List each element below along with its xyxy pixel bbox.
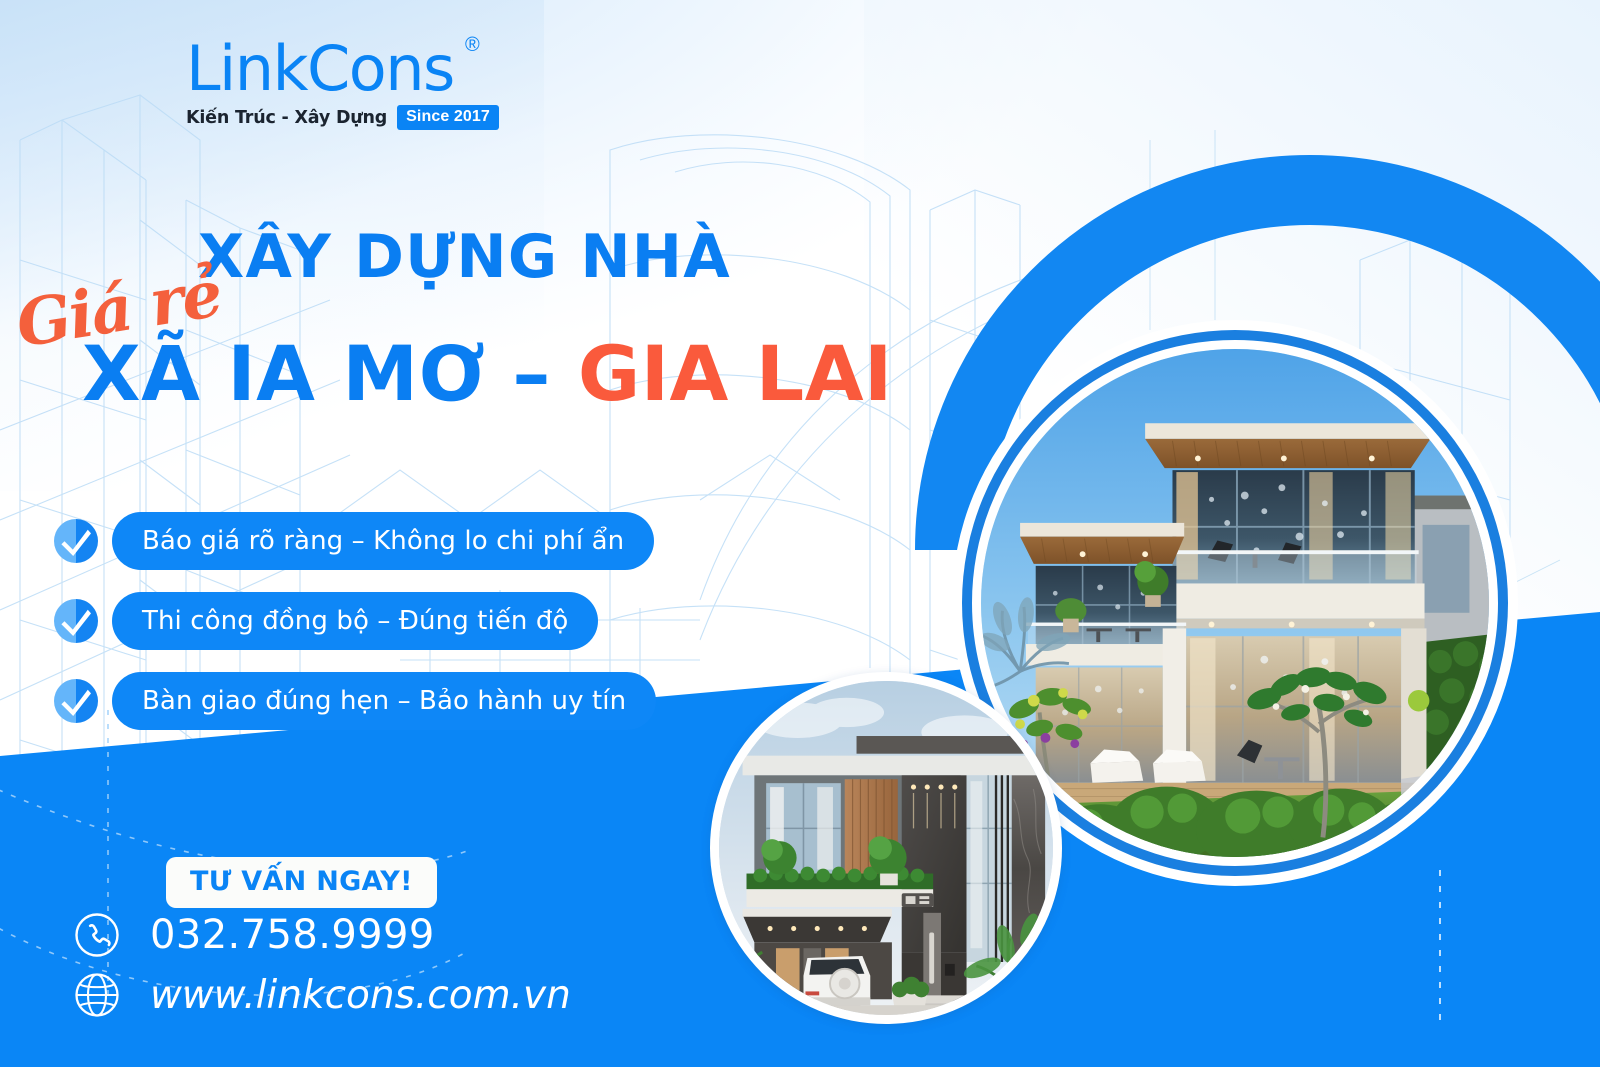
website-url: www.linkcons.com.vn	[150, 973, 571, 1018]
brand-logo[interactable]: LinkCons ® Kiến Trúc - Xây Dựng Since 20…	[186, 38, 499, 130]
check-circle-icon	[52, 677, 100, 725]
check-circle-icon	[52, 597, 100, 645]
feature-pill: Báo giá rõ ràng – Không lo chi phí ẩn	[112, 512, 654, 570]
brand-tagline: Kiến Trúc - Xây Dựng	[186, 108, 387, 128]
check-circle-icon	[52, 517, 100, 565]
headline-line-2: XÃ IA MƠ – GIA LAI	[82, 336, 893, 412]
feature-pill: Bàn giao đúng hẹn – Bảo hành uy tín	[112, 672, 656, 730]
phone-number: 032.758.9999	[150, 912, 435, 958]
villa-photo-secondary	[719, 681, 1053, 1015]
globe-icon	[74, 972, 120, 1018]
villa-photo-main	[981, 349, 1489, 857]
cta-button[interactable]: TƯ VẤN NGAY!	[166, 857, 437, 908]
logo-wordmark: LinkCons	[186, 38, 454, 100]
contact-list: 032.758.9999 www.linkcons.com.vn	[74, 912, 571, 1032]
headline-line-1: XÂY DỰNG NHÀ	[198, 222, 731, 292]
feature-pill: Thi công đồng bộ – Đúng tiến độ	[112, 592, 598, 650]
feature-item: Thi công đồng bộ – Đúng tiến độ	[52, 592, 656, 650]
feature-list: Báo giá rõ ràng – Không lo chi phí ẩn Th…	[52, 512, 656, 752]
feature-item: Báo giá rõ ràng – Không lo chi phí ẩn	[52, 512, 656, 570]
banner-canvas: LinkCons ® Kiến Trúc - Xây Dựng Since 20…	[0, 0, 1600, 1067]
contact-phone[interactable]: 032.758.9999	[74, 912, 571, 958]
phone-icon	[74, 912, 120, 958]
feature-item: Bàn giao đúng hẹn – Bảo hành uy tín	[52, 672, 656, 730]
since-badge: Since 2017	[397, 105, 499, 130]
secondary-photo-circle	[710, 672, 1062, 1024]
contact-website[interactable]: www.linkcons.com.vn	[74, 972, 571, 1018]
headline-dash: –	[485, 329, 577, 418]
registered-trademark-icon: ®	[465, 34, 480, 57]
headline-location-orange: GIA LAI	[578, 329, 893, 418]
